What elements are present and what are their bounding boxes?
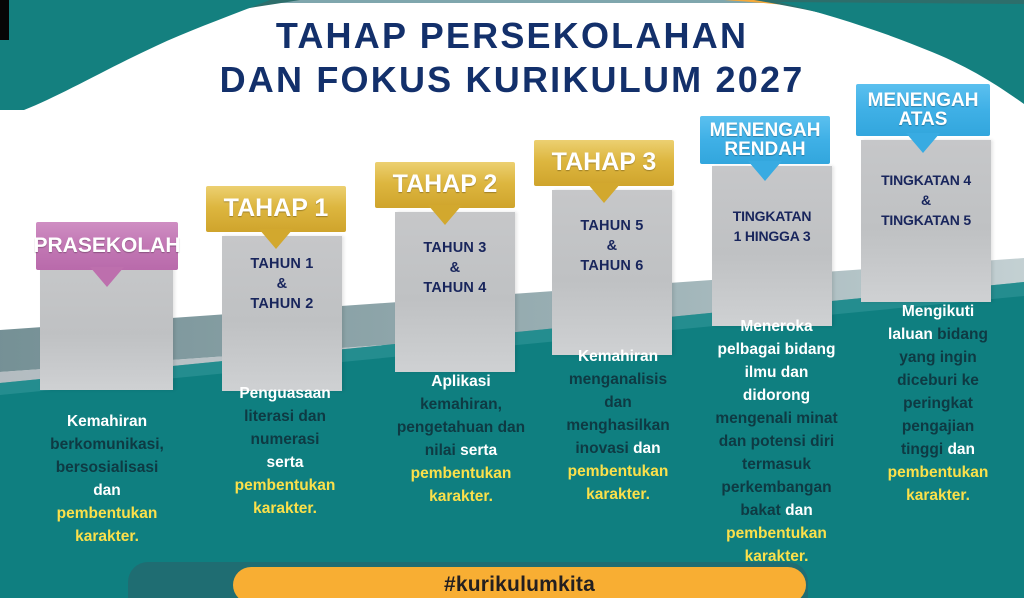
year-line: 1 HINGGA 3 (712, 226, 832, 246)
year-line: TAHUN 5 (552, 216, 672, 236)
stage-tag-label: TAHAP 3 (552, 150, 657, 176)
focus-text-segment: menganalisis (569, 371, 667, 388)
focus-text-segment: pelbagai bidang (718, 341, 836, 358)
focus-text-segment: dan (604, 394, 632, 411)
focus-text-segment: bersosialisasi (56, 459, 159, 476)
focus-text-segment: pengetahuan dan (397, 419, 525, 436)
year-line: TAHUN 3 (395, 238, 515, 258)
focus-text-segment: perkembangan (721, 479, 831, 496)
focus-text-segment: dan (633, 440, 661, 457)
focus-text-segment: pengajian (902, 418, 974, 435)
focus-text-segment: dan (947, 441, 975, 458)
year-line: TINGKATAN 4 (861, 170, 991, 190)
stage-tag-label: TAHAP 1 (224, 196, 329, 222)
focus-text-segment: karakter. (253, 500, 317, 517)
stage-tag-menengah-atas[interactable]: MENENGAH ATAS (856, 84, 990, 136)
stage-tag-label: TAHAP 2 (393, 172, 498, 198)
focus-text-segment: Kemahiran (67, 413, 147, 430)
stage-tag-label-line2: ATAS (899, 110, 948, 129)
focus-text-segment: bakat (740, 502, 785, 519)
focus-text-segment: pembentukan (726, 525, 827, 542)
focus-text-segment: Kemahiran (578, 348, 658, 365)
focus-text-segment: karakter. (75, 528, 139, 545)
focus-text-segment: inovasi (575, 440, 633, 457)
focus-text-segment: mengenali minat (715, 410, 837, 427)
year-line: TINGKATAN (712, 206, 832, 226)
stage-tag-menengah-rendah[interactable]: MENENGAH RENDAH (700, 116, 830, 164)
focus-text-segment: karakter. (429, 488, 493, 505)
stage-tag-prasekolah[interactable]: PRASEKOLAH (36, 222, 178, 270)
focus-text-segment: karakter. (906, 487, 970, 504)
focus-text-tahap1: Penguasaanliterasi dannumerasisertapembe… (205, 382, 365, 520)
focus-text-segment: pembentukan (57, 505, 158, 522)
stage-tag-label-line2: RENDAH (724, 140, 805, 159)
focus-text-prasekolah: Kemahiranberkomunikasi,bersosialisasidan… (22, 410, 192, 548)
focus-text-segment: diceburi ke (897, 372, 979, 389)
focus-text-tahap2: Aplikasikemahiran,pengetahuan dannilai s… (381, 370, 541, 508)
focus-text-segment: serta (460, 442, 497, 459)
focus-text-segment: dan (93, 482, 121, 499)
focus-text-segment: Aplikasi (431, 373, 490, 390)
focus-text-segment: nilai (425, 442, 460, 459)
focus-text-segment: kemahiran, (420, 396, 502, 413)
years-box-tahap3: TAHUN 5 & TAHUN 6 (552, 190, 672, 355)
focus-text-tahap3: Kemahiranmenganalisisdanmenghasilkaninov… (538, 345, 698, 506)
focus-text-segment: bidang (937, 326, 988, 343)
years-box-menengah-atas: TINGKATAN 4 & TINGKATAN 5 (861, 140, 991, 302)
year-line: TAHUN 6 (552, 256, 672, 276)
years-box-menengah-rendah: TINGKATAN 1 HINGGA 3 (712, 166, 832, 326)
year-line: & (395, 258, 515, 278)
focus-text-segment: karakter. (586, 486, 650, 503)
focus-text-segment: serta (266, 454, 303, 471)
focus-text-segment: peringkat (903, 395, 973, 412)
focus-text-segment: yang ingin (899, 349, 977, 366)
hashtag-bar[interactable]: #kurikulumkita (233, 567, 806, 598)
infographic-canvas: TAHAP PERSEKOLAHAN DAN FOKUS KURIKULUM 2… (0, 0, 1024, 598)
focus-text-segment: dan potensi diri (719, 433, 834, 450)
years-box-tahap1: TAHUN 1 & TAHUN 2 (222, 236, 342, 391)
year-line: & (222, 274, 342, 294)
year-line: TAHUN 4 (395, 278, 515, 298)
hashtag-label: #kurikulumkita (444, 573, 595, 597)
stage-tag-label: PRASEKOLAH (34, 235, 181, 256)
year-line: TINGKATAN 5 (861, 210, 991, 230)
focus-text-segment: pembentukan (411, 465, 512, 482)
stage-tag-label-line1: MENENGAH (868, 91, 979, 110)
focus-text-segment: Mengikuti (902, 303, 974, 320)
focus-text-segment: numerasi (251, 431, 320, 448)
year-line: & (552, 236, 672, 256)
focus-text-menengah-atas: Mengikutilaluan bidangyang ingindiceburi… (863, 300, 1013, 507)
stage-tag-tahap2[interactable]: TAHAP 2 (375, 162, 515, 208)
years-box-tahap2: TAHUN 3 & TAHUN 4 (395, 212, 515, 372)
focus-text-segment: pembentukan (568, 463, 669, 480)
year-line: & (861, 190, 991, 210)
focus-text-segment: berkomunikasi, (50, 436, 164, 453)
focus-text-segment: Meneroka (740, 318, 812, 335)
stage-tag-tahap3[interactable]: TAHAP 3 (534, 140, 674, 186)
year-line: TAHUN 1 (222, 254, 342, 274)
focus-text-segment: Penguasaan (239, 385, 330, 402)
focus-text-segment: termasuk (742, 456, 811, 473)
stage-tag-label-line1: MENENGAH (710, 121, 821, 140)
stage-tag-tahap1[interactable]: TAHAP 1 (206, 186, 346, 232)
focus-text-segment: literasi dan (244, 408, 326, 425)
focus-text-segment: tinggi (901, 441, 948, 458)
focus-text-segment: menghasilkan (566, 417, 669, 434)
focus-text-segment: laluan (888, 326, 937, 343)
focus-text-segment: pembentukan (888, 464, 989, 481)
focus-text-segment: pembentukan (235, 477, 336, 494)
focus-text-menengah-rendah: Menerokapelbagai bidangilmu dandidorongm… (694, 315, 859, 568)
focus-text-segment: didorong (743, 387, 810, 404)
focus-text-segment: dan (785, 502, 813, 519)
focus-text-segment: ilmu dan (745, 364, 809, 381)
year-line: TAHUN 2 (222, 294, 342, 314)
